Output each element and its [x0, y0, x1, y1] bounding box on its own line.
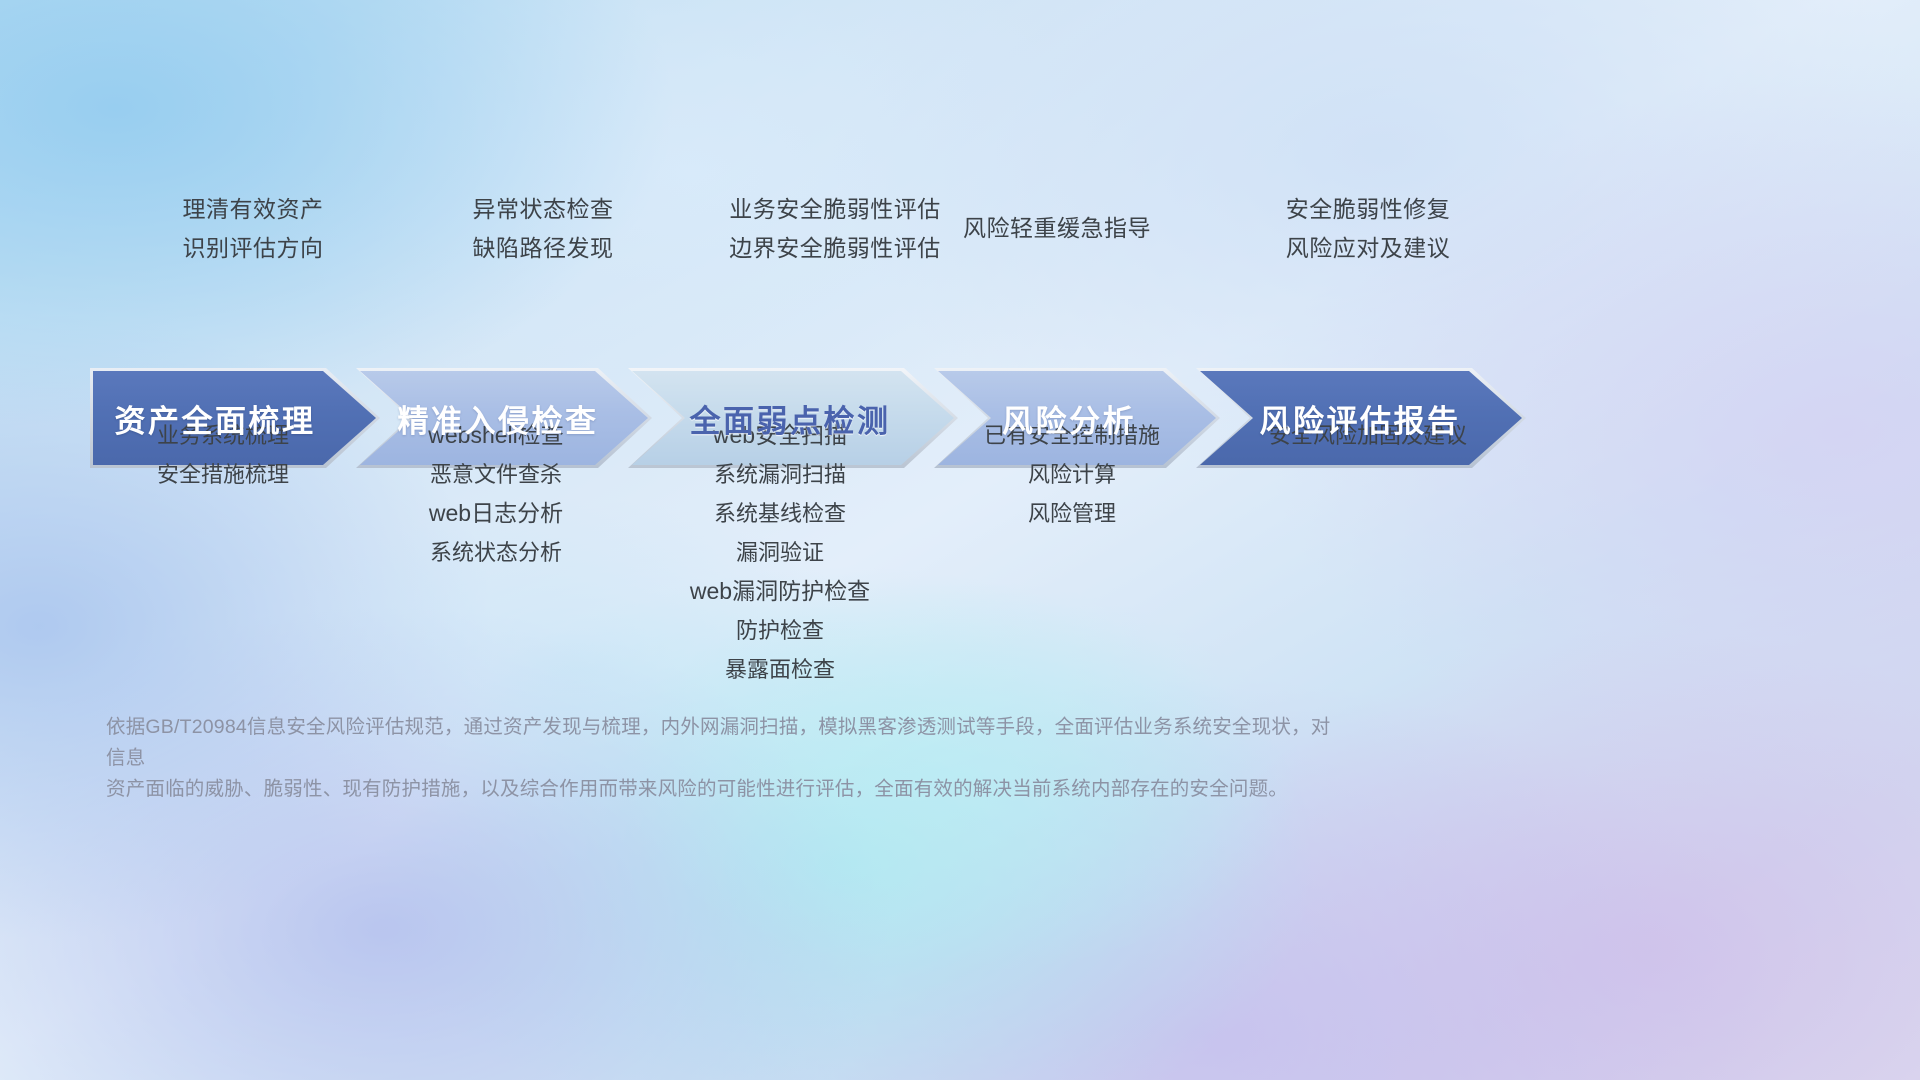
caption-line: 安全脆弱性修复	[1168, 190, 1568, 229]
detail-item: 风险计算	[902, 455, 1242, 494]
footer-line-2: 资产面临的威胁、脆弱性、现有防护措施，以及综合作用而带来风险的可能性进行评估，全…	[106, 774, 1336, 805]
footer-line-1: 依据GB/T20984信息安全风险评估规范，通过资产发现与梳理，内外网漏洞扫描，…	[106, 712, 1336, 774]
stage-arrow-label: 资产全面梳理	[90, 396, 380, 441]
footer-description: 依据GB/T20984信息安全风险评估规范，通过资产发现与梳理，内外网漏洞扫描，…	[106, 712, 1336, 805]
caption-line: 风险应对及建议	[1168, 229, 1568, 268]
detail-item: 防护检查	[610, 611, 950, 650]
detail-item: 暴露面检查	[610, 650, 950, 689]
detail-item: 漏洞验证	[610, 533, 950, 572]
detail-item: web漏洞防护检查	[610, 572, 950, 611]
stage-arrow-label: 风险评估报告	[1196, 396, 1526, 441]
detail-item: 系统基线检查	[610, 494, 950, 533]
process-flow-diagram: 理清有效资产 识别评估方向 异常状态检查 缺陷路径发现 业务安全脆弱性评估 边界…	[0, 0, 1920, 1080]
top-caption-stage-5: 安全脆弱性修复 风险应对及建议	[1168, 190, 1568, 268]
detail-item: 风险管理	[902, 494, 1242, 533]
stage-arrow-label: 全面弱点检测	[628, 396, 958, 441]
stage-arrow-label: 风险分析	[934, 396, 1220, 441]
stage-arrow-label: 精准入侵检查	[356, 396, 652, 441]
detail-column-stage-3: web安全扫描 系统漏洞扫描 系统基线检查 漏洞验证 web漏洞防护检查 防护检…	[610, 416, 950, 689]
detail-item: 系统漏洞扫描	[610, 455, 950, 494]
